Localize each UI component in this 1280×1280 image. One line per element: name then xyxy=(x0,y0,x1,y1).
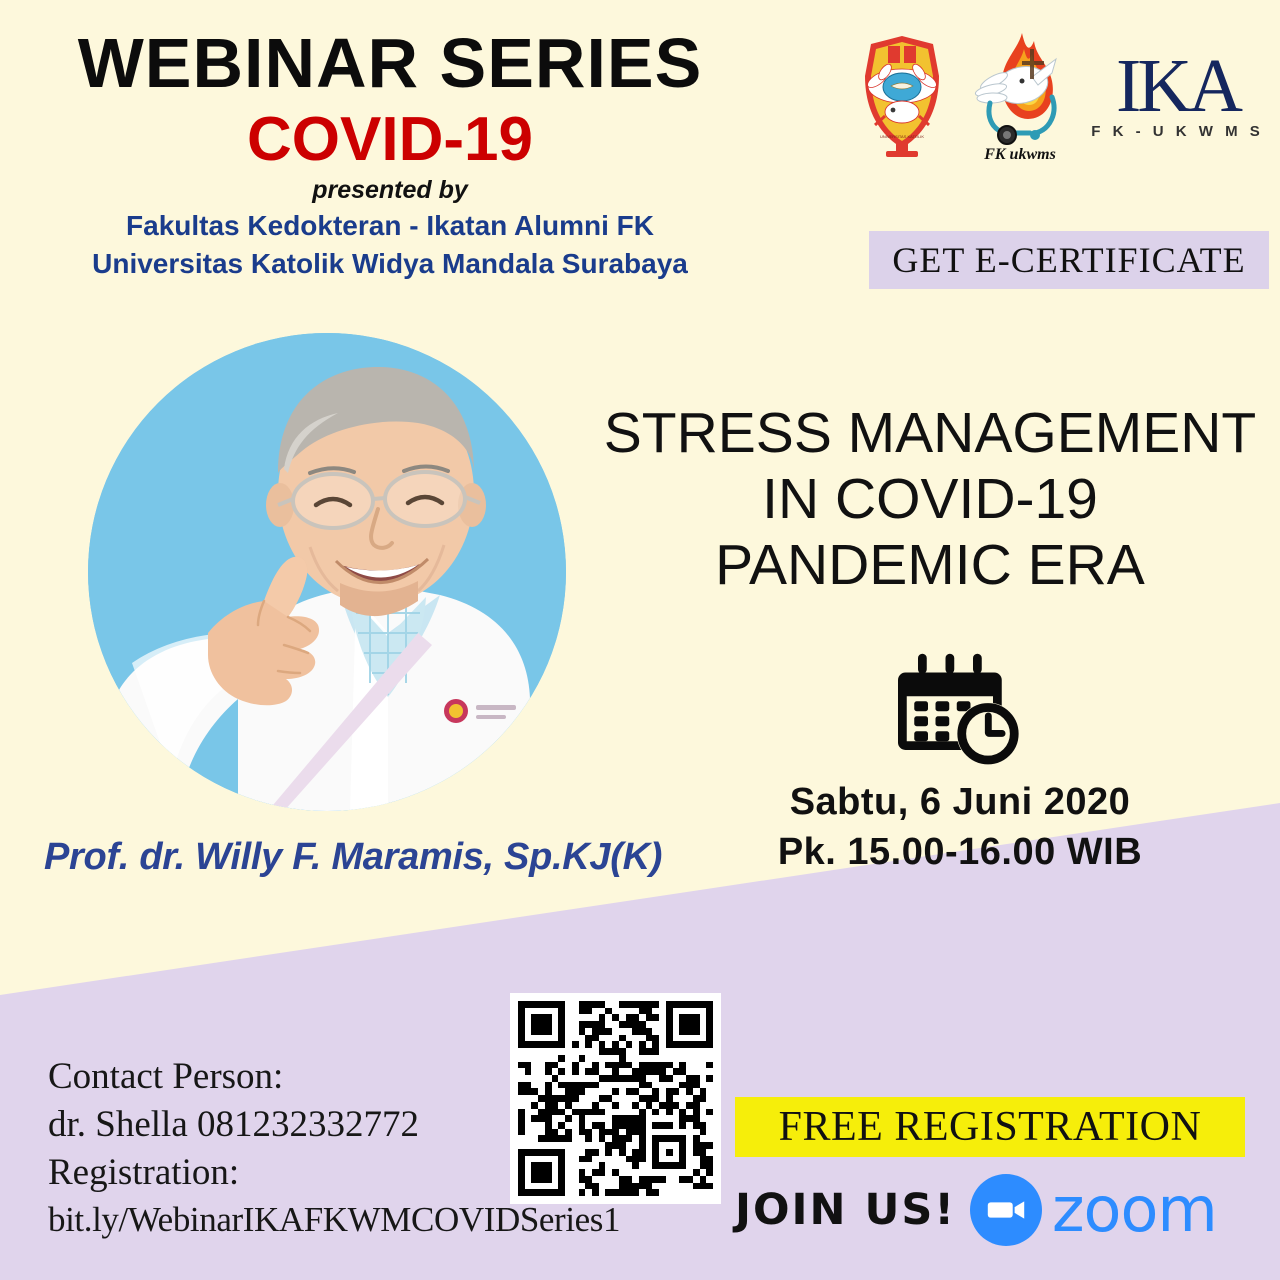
ukwms-crest-icon: UNIVERSITAS KATOLIK xyxy=(855,30,950,165)
registration-qr-code[interactable] xyxy=(510,993,721,1204)
poster-header: WEBINAR SERIES COVID-19 presented by Fak… xyxy=(0,28,780,280)
calendar-clock-icon xyxy=(898,645,1023,770)
talk-title-line-2: IN COVID-19 xyxy=(600,466,1260,532)
svg-text:UNIVERSITAS KATOLIK: UNIVERSITAS KATOLIK xyxy=(880,134,924,139)
free-registration-label: FREE REGISTRATION xyxy=(779,1103,1202,1151)
registration-url[interactable]: bit.ly/WebinarIKAFKWMCOVIDSeries1 xyxy=(48,1197,688,1243)
webinar-poster: WEBINAR SERIES COVID-19 presented by Fak… xyxy=(0,0,1280,1280)
free-registration-banner: FREE REGISTRATION xyxy=(735,1097,1245,1157)
series-title: WEBINAR SERIES xyxy=(0,28,780,99)
zoom-video-camera-icon xyxy=(970,1174,1042,1246)
join-us-row: JOIN US! zoom xyxy=(735,1165,1245,1255)
get-ecertificate-label: GET E-CERTIFICATE xyxy=(892,239,1245,281)
speaker-portrait xyxy=(88,333,566,811)
schedule-block: Sabtu, 6 Juni 2020 Pk. 15.00-16.00 WIB xyxy=(700,645,1220,876)
ika-wordmark: IKA xyxy=(1116,54,1239,119)
zoom-logo: zoom xyxy=(970,1174,1217,1246)
speaker-name: Prof. dr. Willy F. Maramis, Sp.KJ(K) xyxy=(44,836,684,879)
topic-title: COVID-19 xyxy=(0,107,780,172)
talk-title-line-1: STRESS MANAGEMENT xyxy=(600,400,1260,466)
presented-by-label: presented by xyxy=(0,176,780,205)
join-us-label: JOIN US! xyxy=(735,1185,956,1235)
organizer-line-1: Fakultas Kedokteran - Ikatan Alumni FK xyxy=(0,209,780,242)
event-time: Pk. 15.00-16.00 WIB xyxy=(700,829,1220,875)
talk-title: STRESS MANAGEMENT IN COVID-19 PANDEMIC E… xyxy=(600,400,1260,598)
event-date: Sabtu, 6 Juni 2020 xyxy=(700,779,1220,825)
logo-row: UNIVERSITAS KATOLIK xyxy=(855,22,1265,172)
svg-text:FK ukwms: FK ukwms xyxy=(983,146,1056,163)
ika-logo: IKA F K - U K W M S xyxy=(1090,32,1265,162)
organizer-line-2: Universitas Katolik Widya Mandala Suraba… xyxy=(0,247,780,280)
talk-title-line-3: PANDEMIC ERA xyxy=(600,532,1260,598)
get-ecertificate-banner: GET E-CERTIFICATE xyxy=(869,231,1269,289)
fk-ukwms-icon: FK ukwms xyxy=(960,27,1080,167)
zoom-wordmark: zoom xyxy=(1052,1179,1217,1241)
